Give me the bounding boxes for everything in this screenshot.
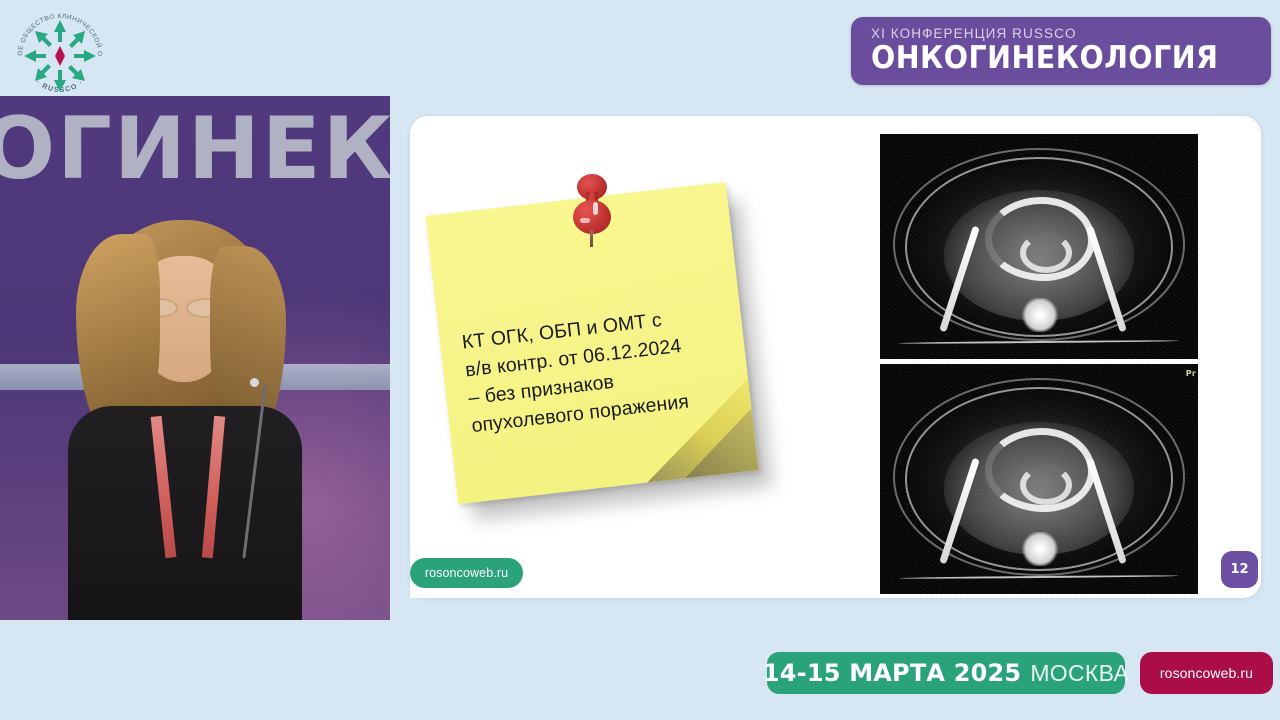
footer-date-strong: 14-15 МАРТА 2025: [763, 659, 1021, 687]
speaker-video-panel[interactable]: ОГИНЕКОЛ ОБЩЕСТВО КЛИНИЧЕСКО 14-15 МАРТА: [0, 96, 390, 620]
russco-logo: РОССИЙСКОЕ ОБЩЕСТВО КЛИНИЧЕСКОЙ ОНКОЛОГИ…: [8, 4, 112, 104]
backdrop-title-text: ОГИНЕКОЛ: [0, 106, 390, 192]
pushpin-icon: [569, 174, 615, 246]
microphone-icon: [250, 378, 259, 387]
sticky-note-text: КТ ОГК, ОБП и ОМТ с в/в контр. от 06.12.…: [461, 298, 740, 440]
conference-eyebrow: XI КОНФЕРЕНЦИЯ RUSSCO: [871, 26, 1271, 41]
speaker-figure: [60, 216, 310, 620]
slide-page-number-badge: 12: [1221, 551, 1258, 588]
logo-center-diamond-icon: [55, 46, 65, 66]
ct-scan-axial-pelvis-top: [880, 134, 1198, 359]
conference-header-banner: XI КОНФЕРЕНЦИЯ RUSSCO ОНКОГИНЕКОЛОГИЯ: [851, 17, 1271, 85]
ct-scan-label: Pr: [1186, 369, 1196, 378]
footer-date-pill: 14-15 МАРТА 2025 МОСКВА: [767, 652, 1125, 694]
sticky-note: КТ ОГК, ОБП и ОМТ с в/в контр. от 06.12.…: [441, 198, 771, 528]
speaker-torso: [68, 406, 302, 620]
logo-ring-text: РОССИЙСКОЕ ОБЩЕСТВО КЛИНИЧЕСКОЙ ОНКОЛОГИ…: [8, 4, 112, 104]
conference-title: ОНКОГИНЕКОЛОГИЯ: [871, 41, 1239, 75]
ct-scan-axial-pelvis-bottom: Pr: [880, 364, 1198, 594]
footer-url-pill[interactable]: rosoncoweb.ru: [1140, 652, 1273, 694]
footer-date-city: МОСКВА: [1030, 660, 1129, 687]
slide-url-pill[interactable]: rosoncoweb.ru: [410, 558, 523, 588]
slide-stage: КТ ОГК, ОБП и ОМТ с в/в контр. от 06.12.…: [399, 96, 1271, 620]
